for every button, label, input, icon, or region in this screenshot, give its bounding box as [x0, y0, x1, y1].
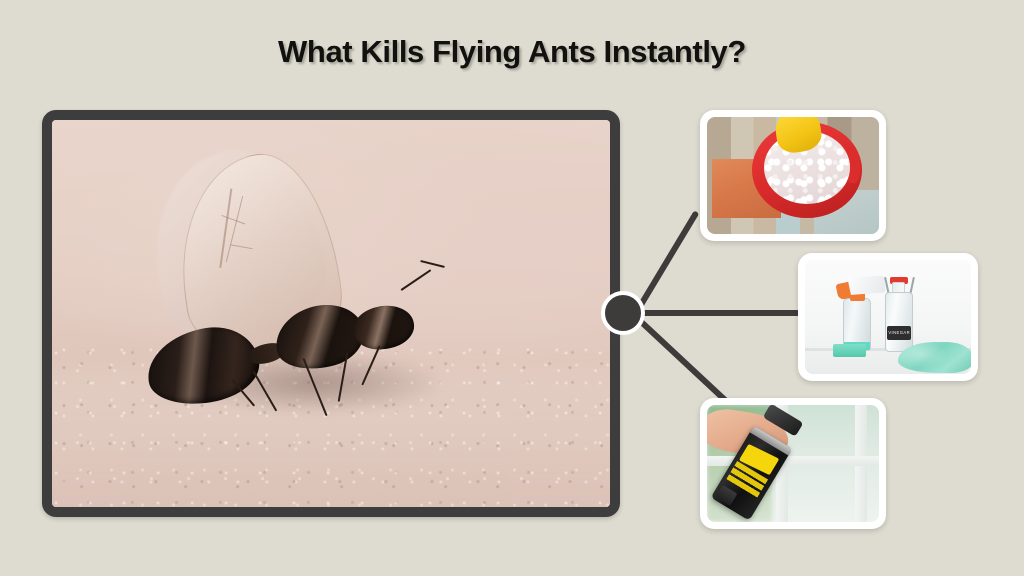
thumbnail-soapy-water-image — [707, 117, 879, 234]
wing-vein — [219, 188, 232, 267]
ant-body-group — [52, 120, 610, 507]
flying-ant-macro-photo — [52, 120, 610, 507]
connector-to-vinegar-spray — [638, 310, 800, 316]
vinegar-bottle-label: VINEGAR — [887, 326, 911, 340]
thumbnail-insecticide-spray-image — [707, 405, 879, 522]
green-cloth — [898, 342, 971, 373]
connector-to-soapy-water — [633, 210, 699, 314]
ant-leg — [253, 370, 278, 411]
ant-antenna — [420, 260, 445, 268]
page-title: What Kills Flying Ants Instantly? — [0, 34, 1024, 70]
main-image-frame[interactable] — [42, 110, 620, 517]
ant-leg — [361, 346, 380, 386]
thumbnail-vinegar-spray-image: VINEGAR — [805, 260, 971, 374]
wing-vein — [231, 244, 252, 249]
thumbnail-vinegar-spray[interactable]: VINEGAR — [798, 253, 978, 381]
thumbnail-soapy-water[interactable] — [700, 110, 886, 241]
infographic-canvas: What Kills Flying Ants Instantly? — [0, 0, 1024, 576]
ant-antenna — [400, 269, 431, 291]
vinegar-bottle-body — [885, 292, 913, 352]
diagram-hub-node[interactable] — [601, 291, 645, 335]
green-sponge — [833, 344, 866, 357]
thumbnail-insecticide-spray[interactable] — [700, 398, 886, 529]
spray-bottle-body — [843, 298, 871, 352]
